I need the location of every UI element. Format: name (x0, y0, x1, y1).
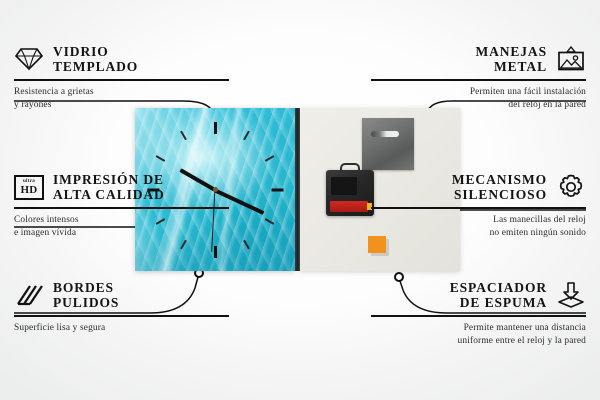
diamond-icon (14, 45, 44, 73)
feature-desc-line2: y rayones (14, 99, 229, 112)
feature-title-line2: ALTA CALIDAD (53, 187, 165, 202)
feature-title-line2: SILENCIOSO (452, 187, 547, 202)
picture-frame-hook-icon (556, 45, 586, 73)
feature-title-line1: VIDRIO (53, 44, 138, 59)
clock-tick (272, 188, 284, 191)
feature-desc-line2: del reloj en la pared (371, 99, 586, 112)
feature-rule (371, 315, 586, 317)
feature-desc-line2: uniforme entre el reloj y la pared (371, 335, 586, 348)
feature-title-line1: MANEJAS (475, 44, 547, 59)
feature-rule (14, 315, 229, 317)
feature-desc-line2: e imagen vívida (14, 227, 229, 240)
feature-mecanismo-silencioso: MECANISMO SILENCIOSO Las manecillas del … (371, 172, 586, 240)
feature-title-line2: METAL (475, 59, 547, 74)
ultra-hd-large-text: HD (21, 185, 38, 196)
feature-rule (14, 79, 229, 81)
mechanism-panel (331, 177, 357, 195)
clock-tick (214, 246, 217, 258)
feature-desc-line1: Resistencia a grietas (14, 86, 229, 99)
feature-title-line2: DE ESPUMA (450, 295, 547, 310)
ultra-hd-small-text: ultra (23, 179, 35, 184)
feature-desc-line2: no emiten ningún sonido (371, 227, 586, 240)
hanger-keyhole-slot (371, 131, 399, 137)
feature-title-line1: BORDES (53, 280, 119, 295)
feature-desc-line1: Permiten una fácil instalación (371, 86, 586, 99)
quartz-mechanism-housing (326, 170, 374, 216)
feature-title-line1: MECANISMO (452, 172, 547, 187)
infographic-canvas: VIDRIO TEMPLADO Resistencia a grietas y … (0, 0, 600, 400)
feature-title-line2: TEMPLADO (53, 59, 138, 74)
feature-rule (371, 79, 586, 81)
mechanism-handle (340, 163, 360, 172)
metal-hanger-plate (362, 118, 414, 170)
feature-desc-line1: Permite mantener una distancia (371, 322, 586, 335)
ultra-hd-icon: ultra HD (14, 173, 44, 201)
battery (330, 201, 368, 212)
feature-desc-line1: Colores intensos (14, 214, 229, 227)
feature-vidrio-templado: VIDRIO TEMPLADO Resistencia a grietas y … (14, 44, 229, 112)
feature-impresion-alta-calidad: ultra HD IMPRESIÓN DE ALTA CALIDAD Color… (14, 172, 229, 240)
feature-title-line2: PULIDOS (53, 295, 119, 310)
feature-rule (14, 207, 229, 209)
gear-icon (556, 173, 586, 201)
feature-bordes-pulidos: BORDES PULIDOS Superficie lisa y segura (14, 280, 229, 335)
clock-tick (214, 122, 217, 134)
feature-espaciador-espuma: ESPACIADOR DE ESPUMA Permite mantener un… (371, 280, 586, 348)
feature-title-line1: IMPRESIÓN DE (53, 172, 165, 187)
feature-manejas-metal: MANEJAS METAL Permiten una fácil instala… (371, 44, 586, 112)
polished-edges-icon (14, 281, 44, 309)
feature-rule (371, 207, 586, 209)
feature-desc-line1: Superficie lisa y segura (14, 322, 229, 335)
foam-spacer-arrow-icon (556, 281, 586, 309)
feature-desc-line1: Las manecillas del reloj (371, 214, 586, 227)
feature-title-line1: ESPACIADOR (450, 280, 547, 295)
